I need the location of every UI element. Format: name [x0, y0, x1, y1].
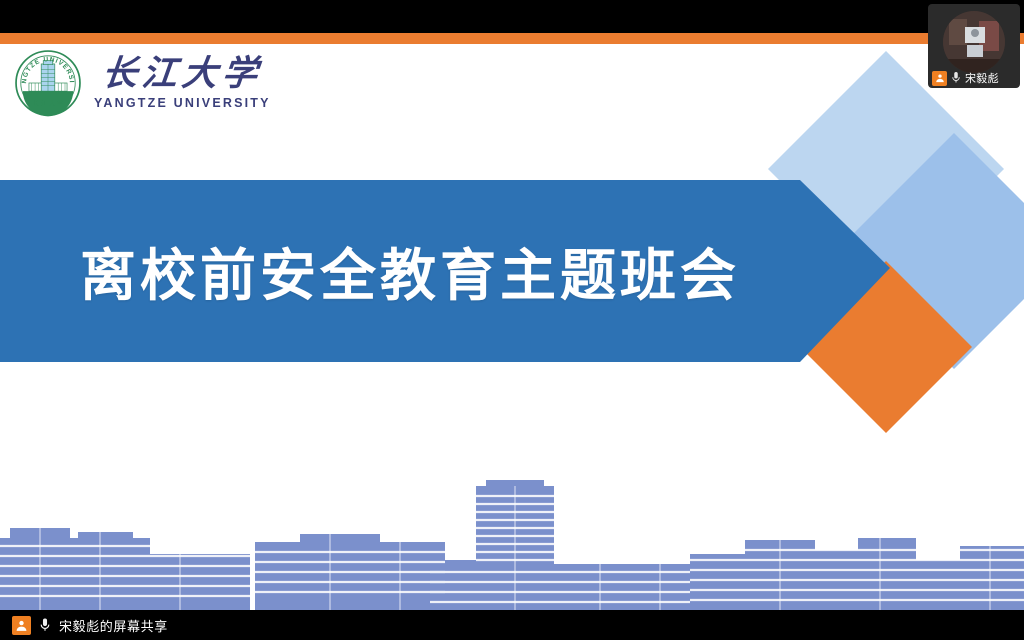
- microphone-icon[interactable]: [38, 617, 52, 634]
- campus-skyline-illustration: [0, 480, 1024, 610]
- orange-strip: [0, 33, 1024, 44]
- university-seal-icon: YANGTZE UNIVERSITY 长 江 大 学: [14, 49, 82, 117]
- university-name-cn: 长江大学: [100, 56, 264, 93]
- tile-status-row: 宋毅彪: [928, 68, 1020, 88]
- person-icon: [932, 71, 947, 86]
- screen-share-viewport: 离校前安全教育主题班会: [0, 0, 1024, 640]
- shared-slide: 离校前安全教育主题班会: [0, 33, 1024, 610]
- avatar: [943, 11, 1005, 73]
- university-name-en: YANGTZE UNIVERSITY: [94, 96, 271, 110]
- university-wordmark: 长江大学 YANGTZE UNIVERSITY: [94, 56, 271, 110]
- meeting-top-chrome: [0, 0, 1024, 33]
- person-icon: [12, 616, 31, 635]
- slide-title: 离校前安全教育主题班会: [0, 180, 820, 362]
- screen-share-status-bar: 宋毅彪的屏幕共享: [0, 610, 1024, 640]
- microphone-icon[interactable]: [950, 71, 962, 85]
- university-logo-lockup: YANGTZE UNIVERSITY 长 江 大 学 长江大学 YANGTZE …: [14, 49, 271, 117]
- screen-share-label: 宋毅彪的屏幕共享: [59, 616, 168, 635]
- svg-text:长 江 大 学: 长 江 大 学: [33, 99, 63, 107]
- participant-name: 宋毅彪: [965, 70, 999, 86]
- participant-video-tile[interactable]: 宋毅彪: [928, 4, 1020, 88]
